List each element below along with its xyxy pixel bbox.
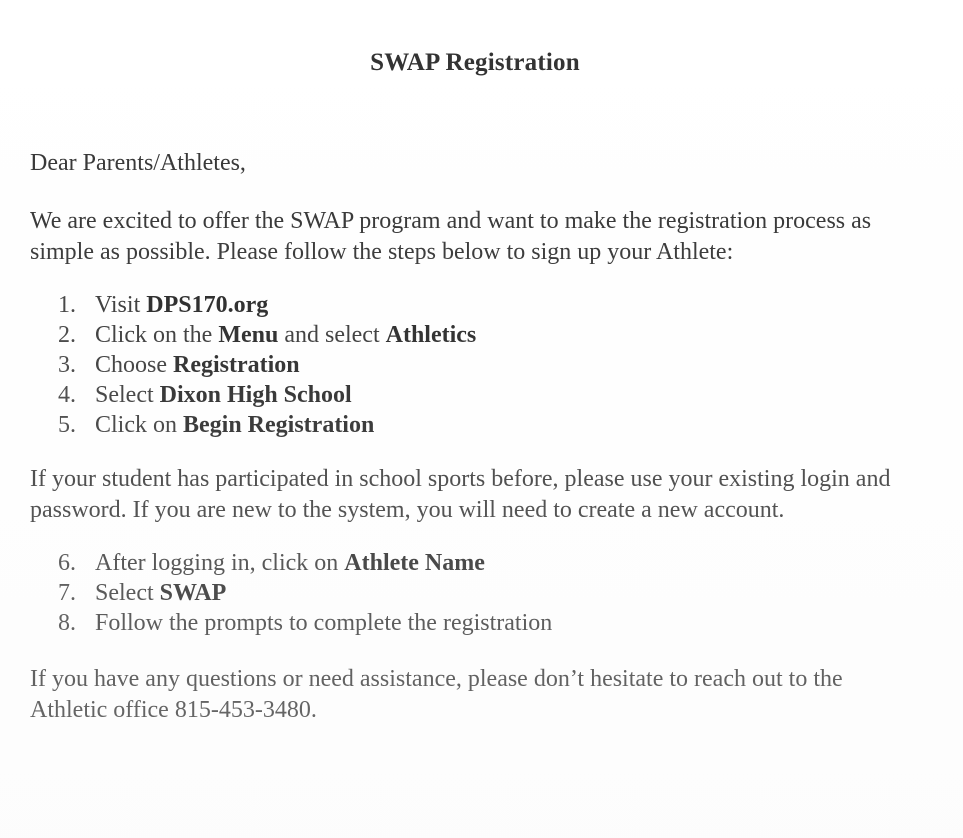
list-item-emphasis: Menu (218, 322, 278, 348)
list-item-number: 8. (58, 608, 92, 638)
intro-paragraph: We are excited to offer the SWAP program… (30, 206, 875, 268)
closing-paragraph: If you have any questions or need assist… (30, 664, 910, 726)
list-item-number: 2. (58, 320, 92, 350)
list-item-text: After logging in, click on (95, 550, 344, 576)
list-item-emphasis: Athletics (386, 322, 477, 348)
list-item-text: Select (95, 382, 160, 408)
list-item: 8.Follow the prompts to complete the reg… (30, 608, 890, 638)
list-item: 6.After logging in, click on Athlete Nam… (30, 548, 890, 578)
list-item-number: 6. (58, 548, 92, 578)
list-item-text: Choose (95, 352, 173, 378)
list-item: 3.Choose Registration (30, 350, 890, 380)
list-item: 5.Click on Begin Registration (30, 410, 890, 440)
login-paragraph: If your student has participated in scho… (30, 464, 900, 526)
list-item-emphasis: Registration (173, 352, 300, 378)
list-item-text: Follow the prompts to complete the regis… (95, 610, 552, 636)
letter-body: Dear Parents/Athletes, We are excited to… (30, 148, 890, 726)
list-item: 2.Click on the Menu and select Athletics (30, 320, 890, 350)
list-item-number: 7. (58, 578, 92, 608)
list-item: 1.Visit DPS170.org (30, 290, 890, 320)
list-item-emphasis: DPS170.org (146, 292, 268, 318)
list-item-number: 4. (58, 380, 92, 410)
salutation: Dear Parents/Athletes, (30, 148, 890, 178)
registration-steps-list-first: 1.Visit DPS170.org2.Click on the Menu an… (30, 290, 890, 440)
letter-page: SWAP Registration Dear Parents/Athletes,… (0, 0, 963, 838)
list-item-number: 3. (58, 350, 92, 380)
list-item-emphasis: Begin Registration (183, 412, 374, 438)
list-item-emphasis: Dixon High School (160, 382, 352, 408)
list-item-text: Select (95, 580, 160, 606)
list-item: 7.Select SWAP (30, 578, 890, 608)
list-item-number: 5. (58, 410, 92, 440)
list-item-text: Click on (95, 412, 183, 438)
list-item-text: Click on the (95, 322, 218, 348)
page-title: SWAP Registration (0, 49, 950, 77)
list-item: 4.Select Dixon High School (30, 380, 890, 410)
list-item-text: Visit (95, 292, 146, 318)
registration-steps-list-second: 6.After logging in, click on Athlete Nam… (30, 548, 890, 638)
list-item-text: and select (278, 322, 385, 348)
list-item-emphasis: SWAP (160, 580, 227, 606)
list-item-emphasis: Athlete Name (344, 550, 485, 576)
list-item-number: 1. (58, 290, 92, 320)
